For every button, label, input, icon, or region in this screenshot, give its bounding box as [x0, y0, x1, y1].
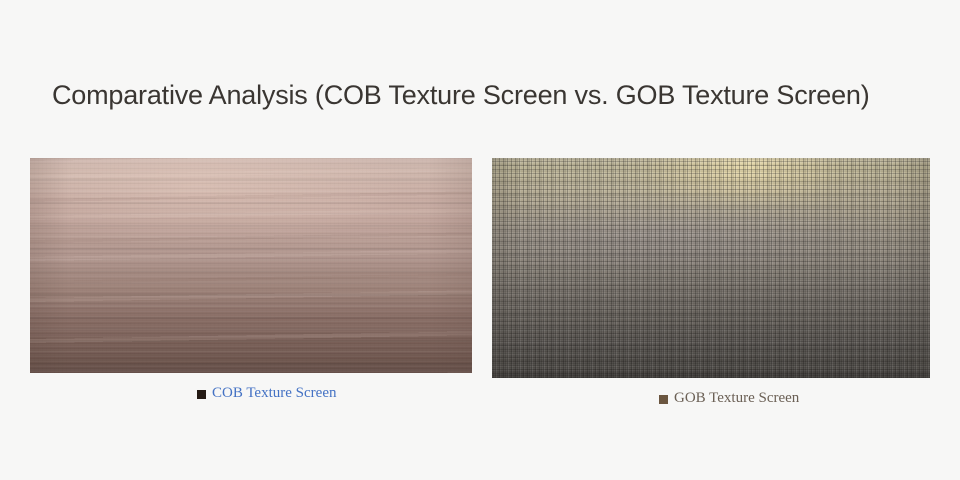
cob-edge-vignette	[30, 158, 472, 373]
page-title: Comparative Analysis (COB Texture Screen…	[52, 78, 870, 112]
filled-square-icon	[197, 390, 206, 399]
cob-texture-screen-image	[30, 158, 472, 373]
gob-photo	[492, 158, 930, 378]
filled-square-icon	[659, 395, 668, 404]
gob-edge-vignette	[492, 158, 930, 378]
gob-caption: GOB Texture Screen	[659, 389, 799, 407]
cob-caption-label: COB Texture Screen	[212, 384, 336, 402]
cob-caption: COB Texture Screen	[197, 384, 336, 402]
gob-caption-label: GOB Texture Screen	[674, 389, 799, 407]
gob-texture-screen-image	[492, 158, 930, 378]
cob-photo	[30, 158, 472, 373]
